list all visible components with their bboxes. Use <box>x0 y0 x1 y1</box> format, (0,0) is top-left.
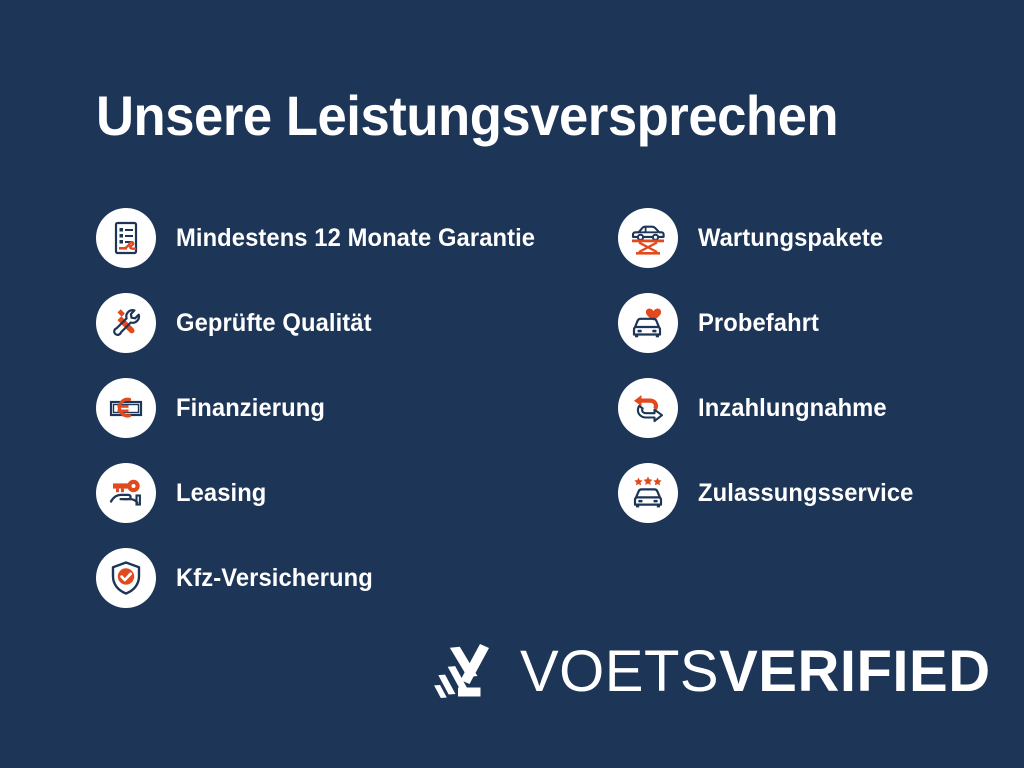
features-left-column: Mindestens 12 Monate Garantie Geprüfte Q… <box>96 208 596 633</box>
features-right-column: Wartungspakete Probefahrt <box>618 208 1018 548</box>
feature-item[interactable]: Wartungspakete <box>618 208 1018 268</box>
feature-item[interactable]: Mindestens 12 Monate Garantie <box>96 208 596 268</box>
voets-v-checkmark-icon <box>434 641 492 703</box>
wrench-screwdriver-icon <box>96 293 156 353</box>
feature-item[interactable]: Geprüfte Qualität <box>96 293 596 353</box>
feature-label: Wartungspakete <box>698 224 883 253</box>
service-promises-poster: Unsere Leistungsversprechen Mindestens 1… <box>0 0 1024 768</box>
feature-item[interactable]: Inzahlungnahme <box>618 378 1018 438</box>
feature-item[interactable]: Kfz-Versicherung <box>96 548 596 608</box>
car-lift-icon <box>618 208 678 268</box>
feature-label: Geprüfte Qualität <box>176 309 372 338</box>
feature-label: Probefahrt <box>698 309 819 338</box>
logo-word-voets: VOETS <box>520 639 719 704</box>
document-signature-icon <box>96 208 156 268</box>
feature-item[interactable]: Probefahrt <box>618 293 1018 353</box>
voets-verified-logo: VOETSVERIFIED <box>434 636 991 708</box>
key-in-hand-icon <box>96 463 156 523</box>
feature-label: Leasing <box>176 479 266 508</box>
banknote-euro-icon <box>96 378 156 438</box>
feature-label: Kfz-Versicherung <box>176 564 373 593</box>
car-stars-icon <box>618 463 678 523</box>
logo-word-verified: VERIFIED <box>719 639 991 704</box>
logo-wordmark: VOETSVERIFIED <box>520 643 991 701</box>
feature-item[interactable]: Finanzierung <box>96 378 596 438</box>
feature-label: Inzahlungnahme <box>698 394 887 423</box>
feature-item[interactable]: Zulassungsservice <box>618 463 1018 523</box>
feature-label: Finanzierung <box>176 394 325 423</box>
exchange-arrows-icon <box>618 378 678 438</box>
shield-check-icon <box>96 548 156 608</box>
page-title: Unsere Leistungsversprechen <box>96 84 904 148</box>
car-heart-icon <box>618 293 678 353</box>
feature-label: Zulassungsservice <box>698 479 913 508</box>
feature-label: Mindestens 12 Monate Garantie <box>176 224 535 253</box>
feature-item[interactable]: Leasing <box>96 463 596 523</box>
